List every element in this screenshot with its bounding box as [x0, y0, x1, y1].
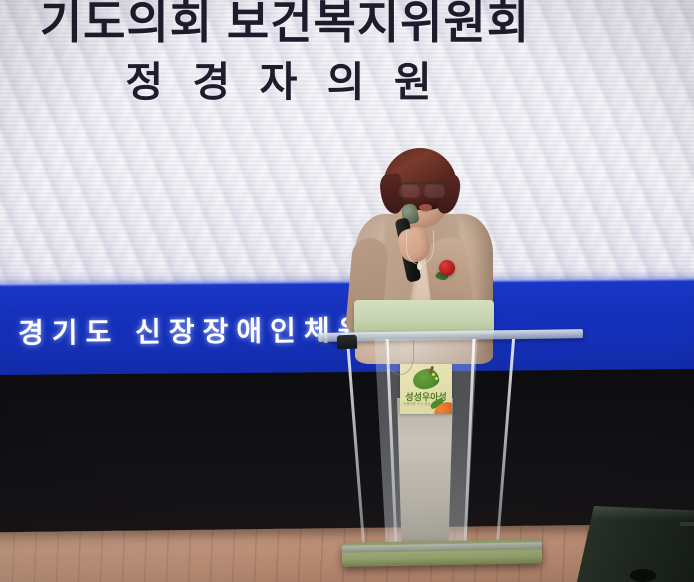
stage-photo: 기도의회 보건복지위원회 정 경 자 의 원 경기도 신장장애인체육	[0, 0, 694, 582]
monitor-handle	[630, 569, 656, 582]
stage-monitor-speaker	[576, 506, 694, 582]
shelf-dark-object	[337, 335, 357, 350]
lectern-edge-1	[346, 339, 365, 544]
lectern-base	[342, 539, 542, 566]
lectern-front-panel	[394, 398, 456, 544]
lectern-base-strip	[342, 542, 542, 552]
screen-headline-line-2: 정 경 자 의 원	[0, 48, 630, 108]
speaker-glasses	[399, 182, 445, 196]
logo-dot-2	[435, 377, 438, 380]
lectern: 성성우아성 아름다운 도시 성남 새로운 희망	[318, 298, 583, 574]
screen-headline-line-1: 기도의회 보건복지위원회	[0, 0, 632, 52]
glasses-lens-right	[424, 184, 445, 198]
speaker-necklace	[406, 230, 434, 265]
lectern-edge-4	[496, 339, 515, 544]
lectern-top-block	[354, 300, 494, 334]
logo-dot-1	[432, 373, 435, 376]
necklace-pendant	[417, 263, 422, 270]
microphone-cable	[386, 340, 414, 375]
speaker-mouth	[419, 204, 432, 211]
corsage-flower	[439, 260, 455, 276]
monitor-notch	[680, 522, 694, 526]
glasses-lens-left	[399, 184, 420, 198]
